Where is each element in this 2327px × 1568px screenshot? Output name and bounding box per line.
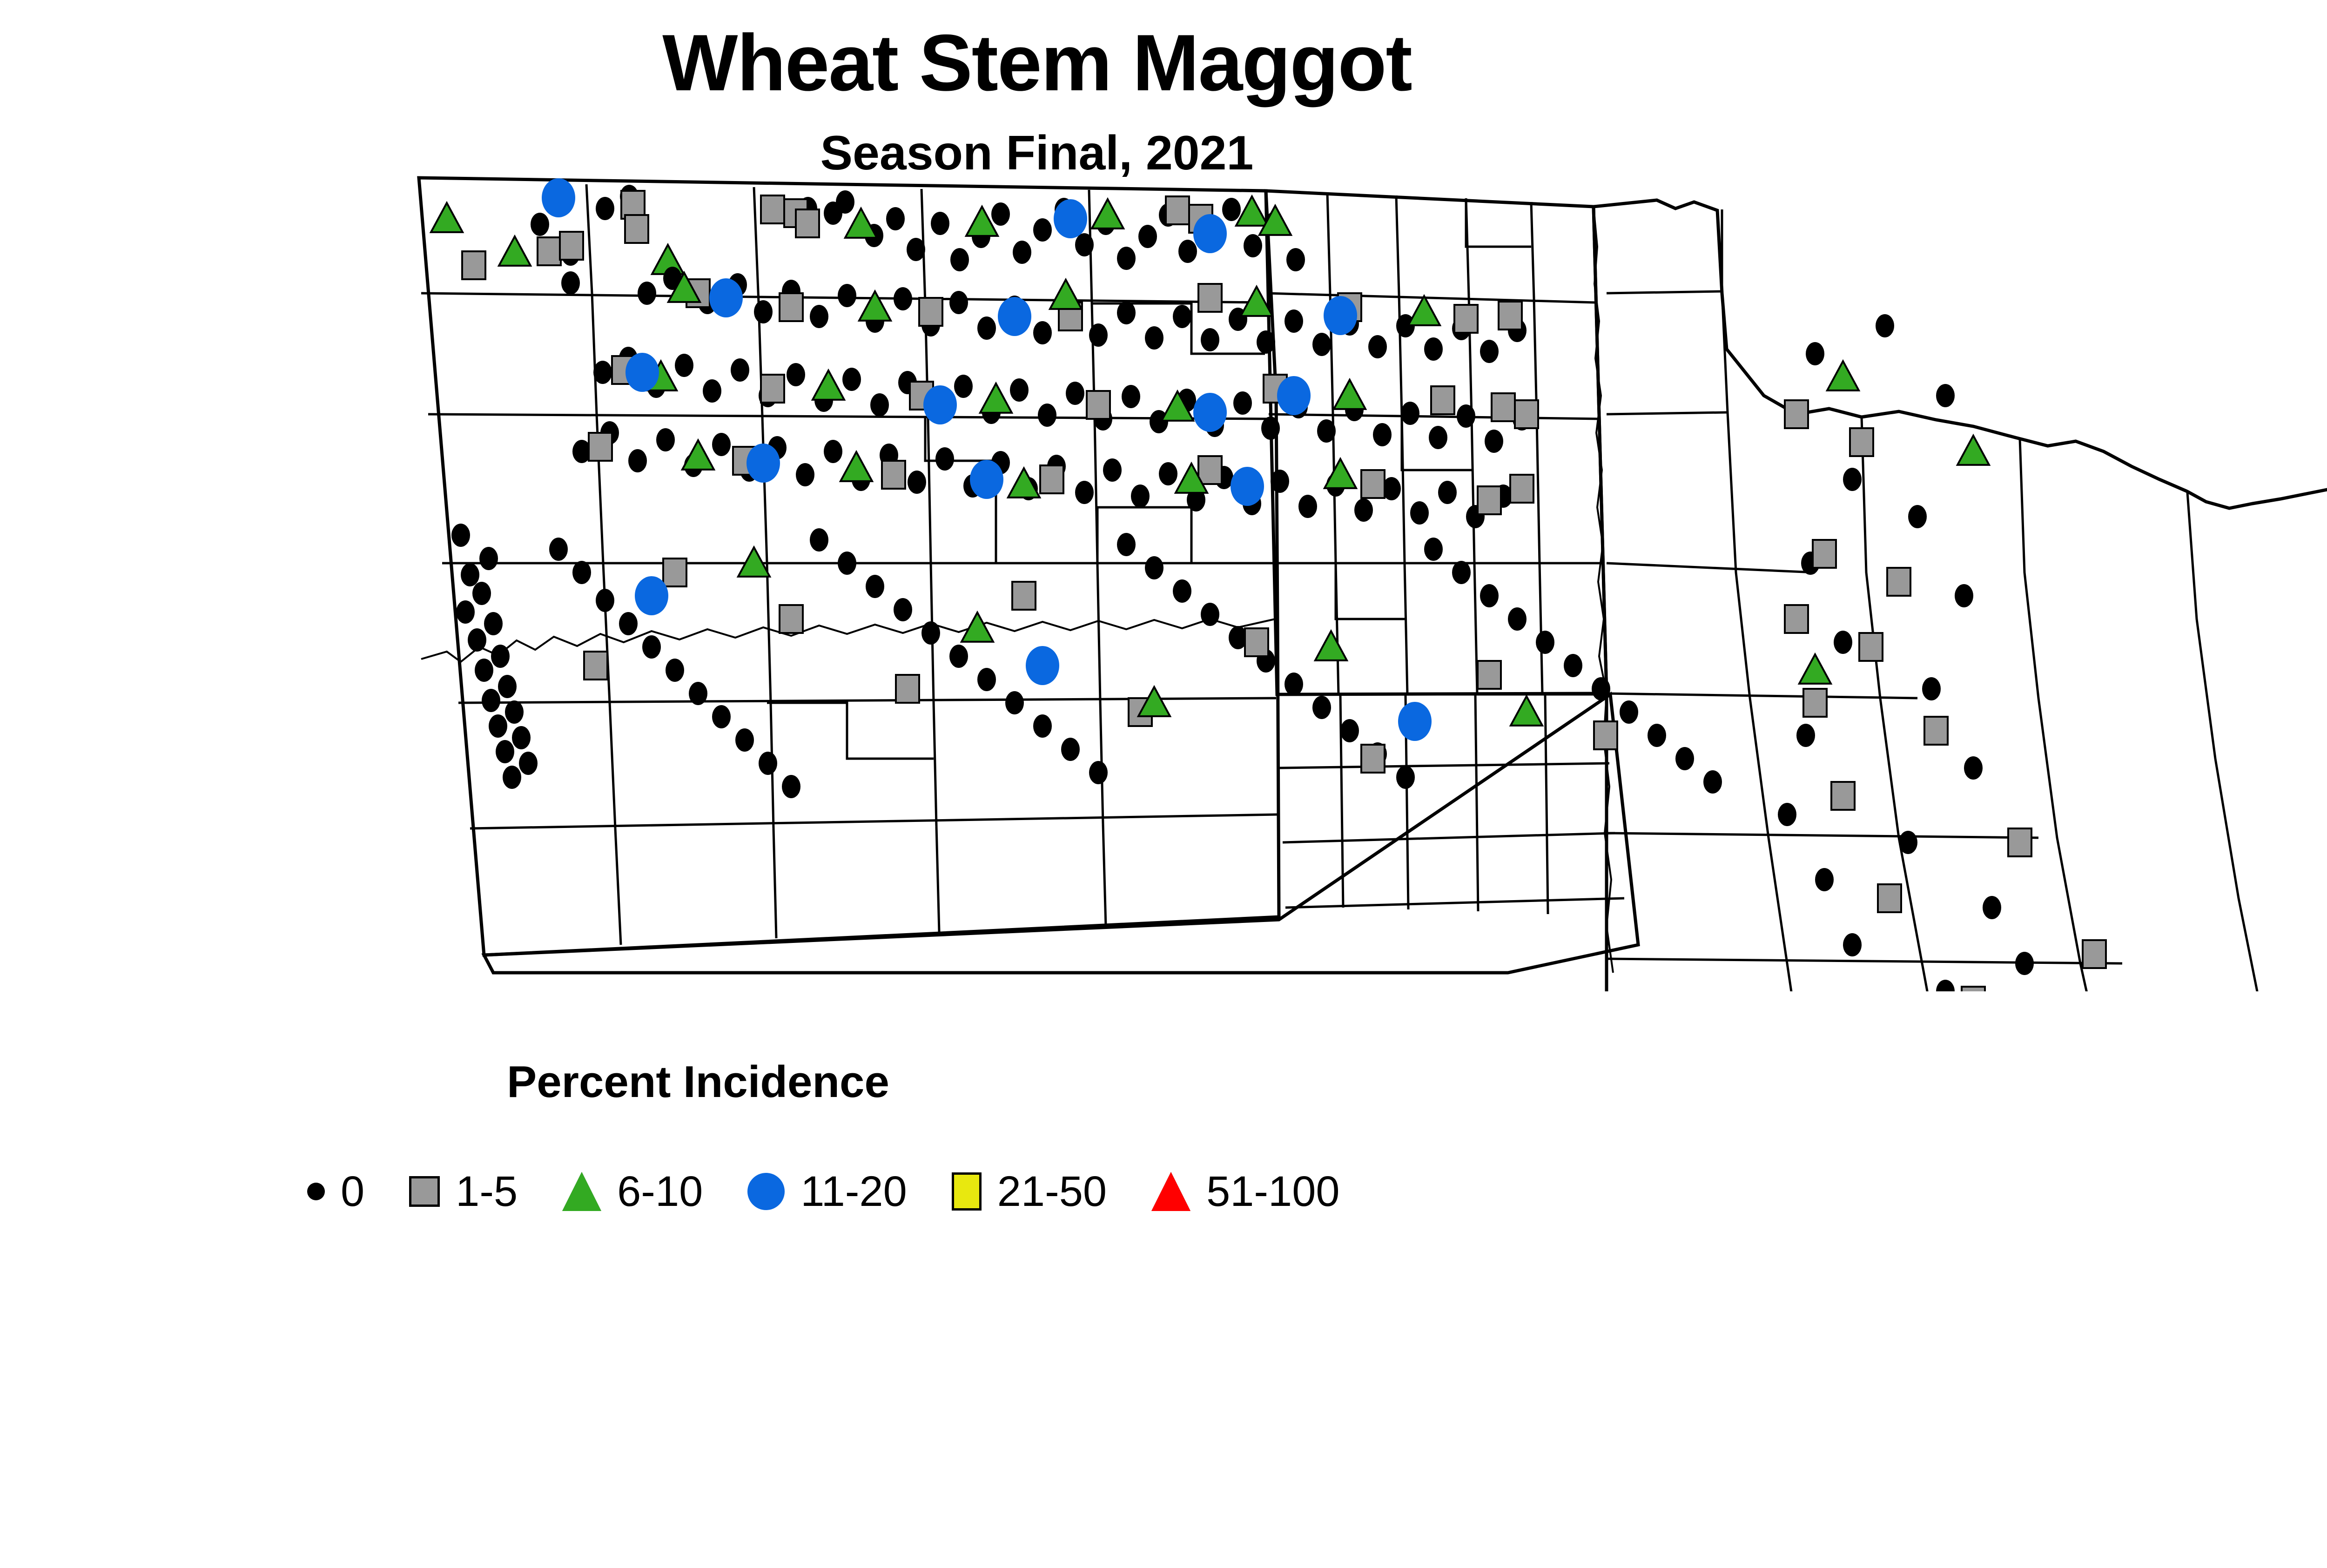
map-point-11-20 [635,576,668,615]
map-point-1-5 [1166,196,1189,224]
map-point-0 [1286,248,1305,271]
map-point-1-5 [589,433,612,461]
map-point-1-5 [1040,465,1063,493]
map-point-1-5 [761,195,784,223]
map-point-0 [1201,328,1219,351]
map-point-1-5 [1785,400,1808,428]
map-point-0 [619,612,638,635]
map-point-0 [2015,952,2034,975]
map-point-1-5 [1492,393,1515,421]
map-point-0 [870,393,889,417]
map-point-0 [484,612,503,635]
map-point-0 [1066,382,1084,405]
map-point-0 [712,705,731,728]
legend-swatch-51-100 [1151,1172,1190,1211]
map-point-0 [496,740,514,763]
map-point-0 [549,538,568,561]
map-point-0 [1075,233,1094,256]
map-point-0 [1317,419,1336,443]
map-page: Wheat Stem Maggot Season Final, 2021 [0,0,2327,1568]
map-point-0 [1089,761,1108,784]
map-point-0 [1038,404,1056,427]
map-point-0 [1257,330,1275,354]
map-point-0 [949,291,968,314]
map-point-0 [1145,556,1163,579]
map-point-0 [461,563,479,586]
legend-items: 01-56-1011-2021-5051-100 [307,1150,1657,1233]
legend-label-21-50: 21-50 [997,1167,1107,1216]
map-point-1-5 [1087,391,1110,419]
map-point-0 [1424,337,1443,361]
map-point-0 [796,463,814,486]
map-point-0 [1173,579,1191,603]
map-point-0 [1222,198,1241,221]
map-point-0 [894,287,912,310]
map-point-0 [489,714,507,738]
map-point-0 [1815,868,1834,891]
legend-title: Percent Incidence [0,1057,1396,1108]
map-point-0 [1271,470,1289,493]
legend-label-11-20: 11-20 [800,1167,907,1216]
map-point-1-5 [919,298,942,326]
map-point-0 [954,375,973,398]
map-point-0 [1983,896,2001,919]
map-point-0 [1899,831,1917,854]
map-point-0 [1964,756,1983,780]
map-point-0 [712,433,731,456]
map-point-0 [977,668,996,691]
map-point-0 [479,547,498,570]
map-point-11-20 [923,385,957,424]
legend-swatch-6-10 [562,1172,601,1211]
map-point-0 [472,582,491,605]
map-point-0 [1233,391,1252,415]
map-point-0 [1061,738,1080,761]
map-point-0 [1401,402,1419,425]
map-point-0 [759,752,777,775]
map-point-0 [1089,323,1108,347]
map-point-1-5 [1887,568,1910,596]
map-point-0 [572,561,591,584]
map-point-11-20 [1277,376,1311,415]
map-point-0 [1796,724,1815,747]
map-point-0 [787,363,805,386]
map-point-0 [838,552,856,575]
map-point-1-5 [1859,633,1883,661]
map-point-0 [886,207,905,230]
map-point-0 [842,368,861,391]
map-point-0 [1285,673,1303,696]
map-point-1-5 [1478,486,1501,514]
map-point-0 [1354,498,1373,522]
map-point-0 [1103,458,1122,482]
map-point-0 [1410,501,1429,525]
map-point-0 [1373,423,1392,446]
map-point-1-5 [1831,782,1855,810]
map-point-11-20 [998,297,1031,336]
map-point-0 [894,598,912,621]
legend: Percent Incidence 01-56-1011-2021-5051-1… [0,1057,1396,1243]
map-point-0 [1806,342,1824,365]
map-point-0 [1457,404,1475,428]
map-point-1-5 [1454,305,1478,333]
map-point-1-5 [1924,717,1948,745]
map-point-0 [689,682,707,705]
map-point-0 [675,354,693,377]
map-point-0 [596,197,614,220]
map-point-1-5 [2083,940,2106,968]
legend-item-21-50: 21-50 [952,1167,1107,1216]
map-point-0 [1368,335,1387,358]
map-point-11-20 [1398,702,1432,741]
map-point-0 [949,645,968,668]
map-point-0 [1075,481,1094,504]
map-point-0 [1312,333,1331,356]
map-point-0 [1117,533,1136,556]
map-point-0 [935,447,954,471]
map-point-0 [451,524,470,547]
map-point-1-5 [1813,540,1836,568]
map-point-1-5 [1478,661,1501,689]
map-point-0 [1117,247,1136,270]
map-point-0 [782,775,800,798]
map-point-11-20 [747,444,780,483]
map-point-1-5 [1431,386,1454,414]
map-point-0 [498,675,517,698]
map-point-0 [1620,700,1638,724]
map-point-0 [1173,305,1191,328]
map-point-0 [1843,933,1862,956]
map-point-0 [1843,468,1862,491]
map-point-1-5 [538,237,561,265]
map-point-0 [1834,631,1852,654]
map-point-1-5 [1785,605,1808,633]
map-point-0 [1312,696,1331,719]
map-point-0 [1005,691,1024,714]
legend-swatch-zero [307,1183,325,1200]
map-point-0 [593,361,612,384]
map-point-0 [1703,770,1722,794]
map-point-11-20 [542,178,575,217]
map-point-0 [628,449,647,472]
map-point-0 [1922,677,1941,700]
map-point-1-5 [1198,456,1222,484]
map-point-0 [1508,607,1527,631]
map-point-0 [1648,724,1666,747]
map-point-1-5 [1515,400,1538,428]
map-point-0 [735,728,754,752]
legend-item-11-20: 11-20 [747,1167,907,1216]
legend-label-1-5: 1-5 [456,1167,518,1216]
map-point-1-5 [780,293,803,321]
map-point-0 [1261,417,1280,440]
map-point-0 [503,766,521,789]
map-point-0 [1033,321,1052,344]
legend-swatch-1-5 [409,1176,440,1207]
map-point-0 [1778,803,1796,826]
map-point-1-5 [1012,582,1036,610]
map-point-0 [866,575,884,598]
map-point-0 [1013,241,1031,264]
map-point-1-5 [663,559,686,586]
map-point-0 [1138,225,1157,248]
map-point-0 [991,202,1010,226]
map-point-1-5 [1803,689,1827,717]
map-point-0 [1908,505,1927,528]
map-point-1-5 [2008,828,2031,856]
map-point-0 [1936,384,1955,407]
map-point-0 [1122,385,1140,408]
map-point-1-5 [560,232,583,260]
map-point-0 [596,589,614,612]
map-point-0 [1675,747,1694,770]
map-point-0 [1485,430,1503,453]
map-point-0 [468,628,486,652]
map-point-0 [505,700,524,724]
map-point-0 [977,316,996,340]
map-point-11-20 [1193,393,1227,432]
map-point-0 [561,271,580,295]
map-point-0 [838,284,856,307]
legend-item-1-5: 1-5 [409,1167,518,1216]
map-point-11-20 [1231,467,1264,506]
map-point-0 [703,379,721,403]
map-point-1-5 [1962,987,1985,991]
map-point-0 [656,428,675,451]
map-point-0 [1145,326,1163,350]
map-point-1-5 [1594,721,1617,749]
legend-item-6-10: 6-10 [562,1167,703,1216]
map-point-1-5 [625,215,648,243]
map-point-0 [1396,766,1415,789]
map-point-0 [810,305,828,328]
map-point-0 [1033,714,1052,738]
map-point-0 [1201,603,1219,626]
map-point-0 [907,238,925,261]
map-container [0,154,2327,991]
map-point-0 [1480,340,1499,363]
map-point-0 [824,440,842,463]
map-point-1-5 [584,652,607,680]
map-point-0 [482,689,500,712]
map-point-1-5 [1878,884,1901,912]
legend-label-6-10: 6-10 [617,1167,703,1216]
map-point-1-5 [780,605,803,633]
map-point-0 [491,645,510,668]
map-point-11-20 [625,353,659,392]
map-point-0 [731,358,749,382]
map-point-0 [1298,495,1317,518]
map-point-0 [1564,654,1582,677]
map-point-0 [950,248,969,271]
map-point-1-5 [1198,284,1222,312]
map-point-0 [638,282,656,305]
map-point-0 [1285,310,1303,333]
map-point-0 [810,528,828,552]
map-point-1-5 [1499,302,1522,330]
map-point-0 [1536,631,1554,654]
map-point-1-5 [882,461,905,489]
states-map [0,154,2327,991]
legend-item-0: 0 [307,1167,364,1216]
map-point-11-20 [1324,296,1357,335]
map-point-0 [836,190,854,214]
map-point-1-5 [1245,628,1268,656]
map-point-0 [921,621,940,645]
map-point-1-5 [1361,745,1385,773]
map-point-0 [1033,218,1052,242]
map-point-1-5 [761,375,784,403]
legend-label-0: 0 [341,1167,364,1216]
map-point-1-5 [896,675,919,703]
map-point-1-5 [1510,475,1533,503]
map-point-0 [1452,561,1471,584]
legend-swatch-11-20 [747,1173,785,1210]
map-point-11-20 [1026,646,1059,685]
map-point-0 [931,212,949,235]
map-point-0 [1876,314,1894,337]
map-point-11-20 [970,460,1003,499]
map-point-0 [1117,301,1136,324]
legend-label-51-100: 51-100 [1206,1167,1339,1216]
map-point-11-20 [709,278,743,317]
map-point-0 [1424,538,1443,561]
map-point-0 [1131,485,1150,508]
map-point-0 [1480,584,1499,607]
map-point-1-5 [1850,428,1873,456]
map-point-0 [666,659,684,682]
legend-item-51-100: 51-100 [1151,1167,1339,1216]
map-point-0 [1244,234,1262,257]
map-point-0 [456,600,475,624]
map-point-0 [1592,677,1610,700]
map-point-11-20 [1054,199,1087,238]
map-point-0 [1178,240,1197,263]
map-point-0 [1438,481,1457,504]
map-point-0 [908,471,926,494]
map-point-0 [1955,584,1973,607]
map-point-0 [642,635,661,659]
map-point-1-5 [462,251,485,279]
page-title: Wheat Stem Maggot [0,17,2074,109]
map-point-0 [1429,426,1447,449]
map-point-0 [1159,462,1177,485]
map-point-0 [531,213,549,236]
map-point-0 [1010,378,1029,402]
map-point-0 [1340,719,1359,742]
map-point-11-20 [1193,214,1227,253]
map-point-1-5 [1361,470,1385,498]
map-point-0 [512,726,531,749]
legend-swatch-21-50 [952,1172,982,1211]
map-point-0 [754,300,773,323]
map-point-0 [475,659,493,682]
map-point-0 [519,752,538,775]
map-point-1-5 [796,209,819,237]
